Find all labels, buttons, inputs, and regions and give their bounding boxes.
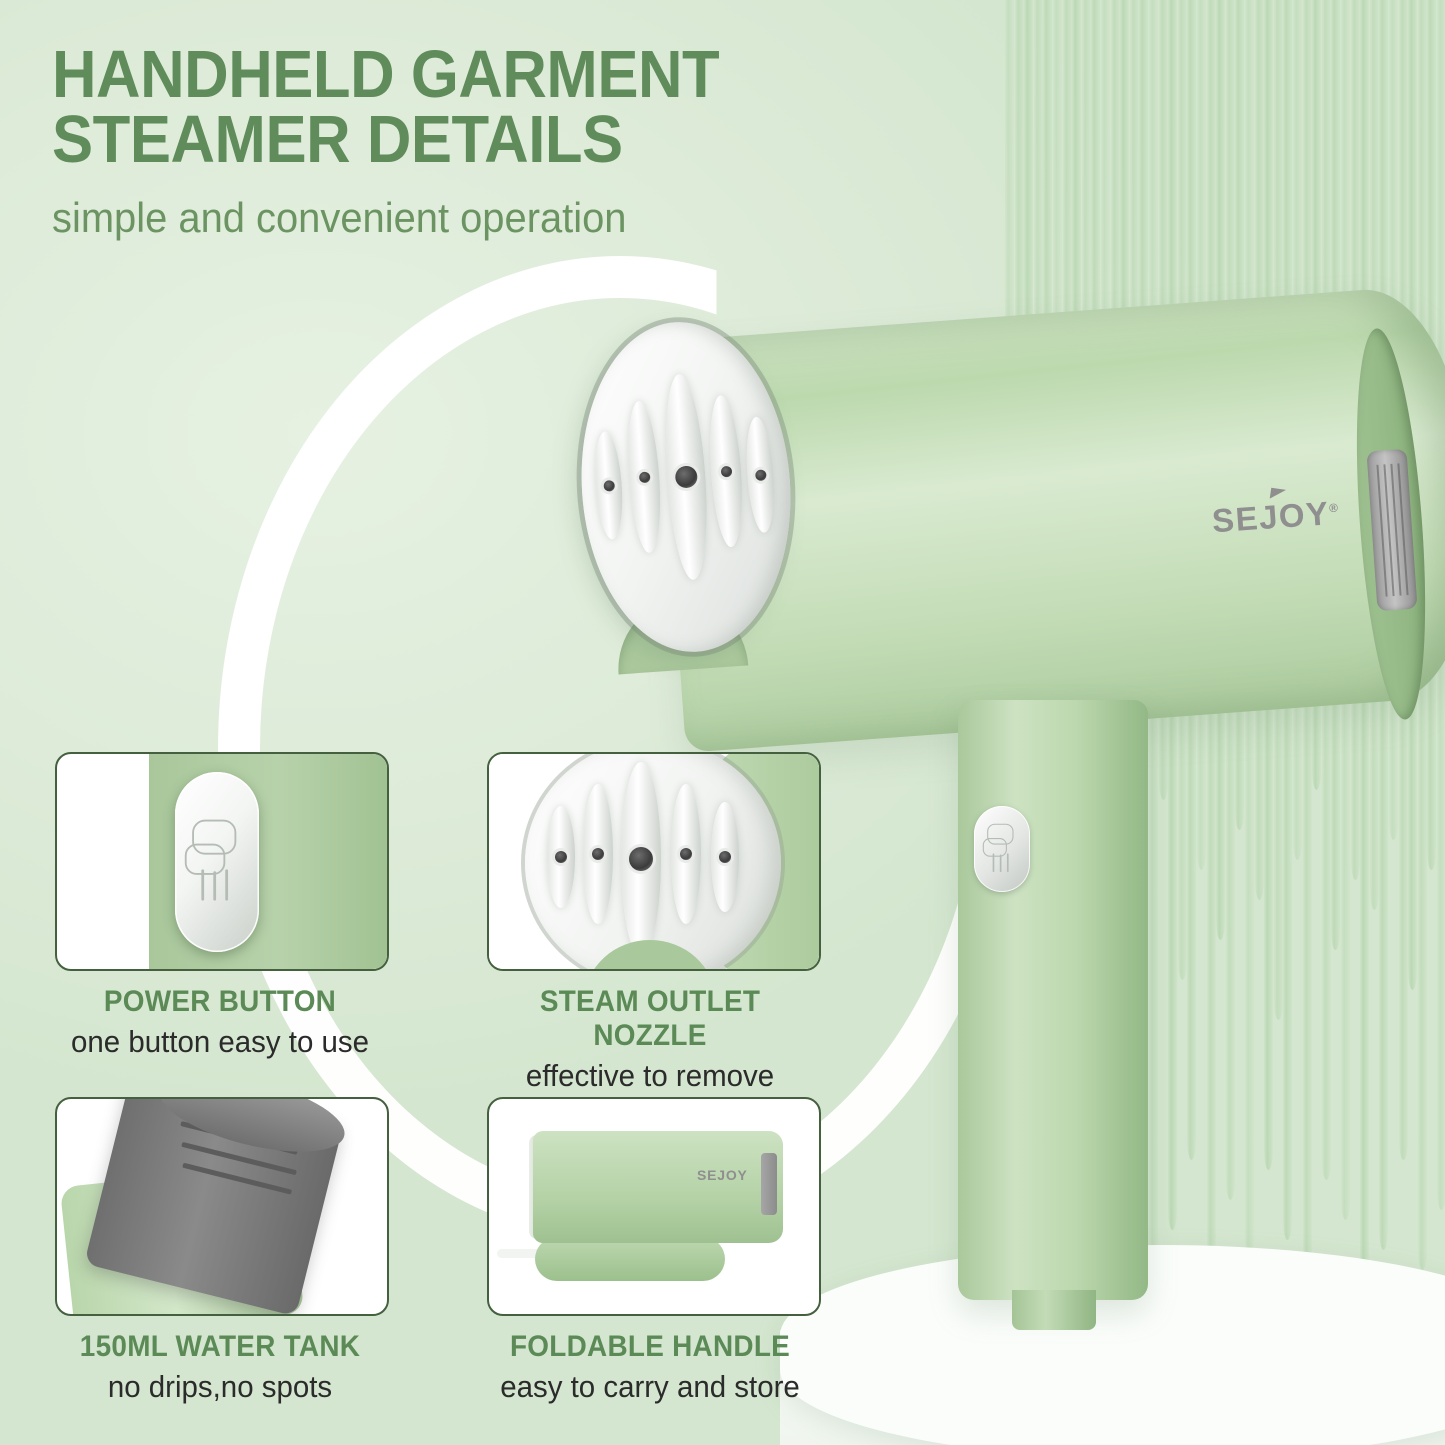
steam-hole [754,469,766,481]
steam-puff [983,838,1007,857]
brand-logo-text: SEJOY [1211,494,1331,539]
steam-puff [185,844,225,875]
feature-heading: FOLDABLE HANDLE [483,1330,818,1364]
feature-description: one button easy to use [49,1024,391,1060]
page-subtitle: simple and convenient operation [52,194,907,242]
feature-card-foldable-handle: SEJOY [487,1097,821,1316]
steam-hole [592,848,604,860]
feature-description: easy to carry and store [479,1369,821,1405]
feature-heading: STEAM OUTLET NOZZLE [483,985,818,1053]
page-title-line-2: STEAMER DETAILS [52,102,623,177]
steam-line [993,853,994,872]
feature-card-steam-nozzle [487,752,821,971]
steam-hole [719,851,731,863]
logo-triangle-accent [1270,488,1286,501]
page-title: HANDHELD GARMENT STEAMER DETAILS [52,42,880,172]
folded-steamer-icon [533,1131,783,1243]
feature-heading: 150ML WATER TANK [53,1330,388,1364]
steam-line [225,869,227,900]
steam-line [1007,853,1008,872]
steam-line [201,869,203,900]
feature-caption-water-tank: 150ML WATER TANK no drips,no spots [40,1330,400,1405]
folded-handle [535,1237,725,1281]
steam-hole [720,465,732,477]
feature-heading: POWER BUTTON [53,985,388,1019]
infographic-canvas: HANDHELD GARMENT STEAMER DETAILS simple … [0,0,1445,1445]
feature-caption-foldable-handle: FOLDABLE HANDLE easy to carry and store [470,1330,830,1405]
registered-mark: ® [1329,501,1339,516]
card-brand-logo: SEJOY [697,1167,748,1183]
steam-line [213,871,215,900]
steam-icon [175,772,259,952]
steam-glyph [982,823,1023,876]
steam-hole [680,848,692,860]
feature-card-power-button [55,752,389,971]
header: HANDHELD GARMENT STEAMER DETAILS simple … [52,42,952,242]
nozzle-plate-icon [525,752,781,971]
feature-card-water-tank [55,1097,389,1316]
page-title-line-1: HANDHELD GARMENT [52,37,719,112]
feature-caption-power-button: POWER BUTTON one button easy to use [40,985,400,1060]
steam-hole [629,847,653,871]
power-button-icon [974,806,1030,892]
handle-foot [1012,1290,1096,1330]
steam-hole [555,851,567,863]
product-handle [958,700,1148,1300]
folded-vent-icon [761,1153,777,1215]
steam-hole [603,480,615,492]
steam-line [1000,855,1001,873]
feature-description: no drips,no spots [49,1369,391,1405]
steam-hole [638,471,650,483]
